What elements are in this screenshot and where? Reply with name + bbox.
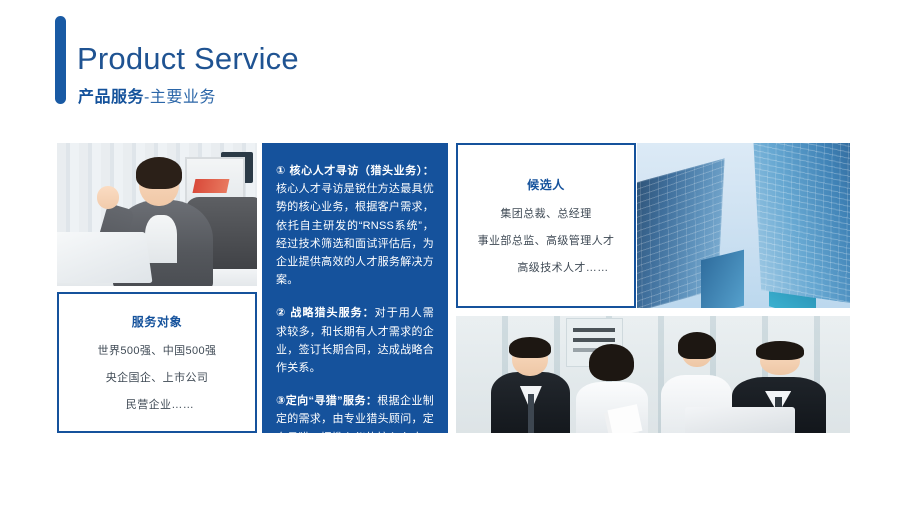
- page-subtitle-chinese: 产品服务-主要业务: [78, 88, 216, 108]
- photo-building-right: [752, 143, 850, 306]
- photo-person-hair: [509, 337, 552, 359]
- candidates-box-line: 集团总裁、总经理: [500, 206, 591, 222]
- photo-person-hair: [589, 344, 634, 381]
- service-item: ① 核心人才寻访（猎头业务）：核心人才寻访是锐仕方达最具优势的核心业务，根据客户…: [276, 162, 434, 289]
- photo-document-paper: [608, 405, 643, 433]
- clients-box-title: 服务对象: [132, 313, 182, 330]
- photo-building-center: [701, 250, 744, 308]
- service-item: ③定向“寻猎”服务：根据企业制定的需求，由专业猎头顾问，定向寻猎，招揽心仪的核心…: [276, 392, 434, 447]
- clients-box-line: 民营企业……: [126, 397, 194, 413]
- page-title-english: Product Service: [77, 42, 299, 76]
- subtitle-light-part: -主要业务: [144, 89, 216, 106]
- service-item-lead: ③定向“寻猎”服务：: [276, 395, 377, 407]
- slide-header: Product Service 产品服务-主要业务: [55, 14, 475, 106]
- photo-person-woman-center: [574, 342, 649, 433]
- photo-person-hair: [678, 332, 716, 358]
- service-item-body: 核心人才寻访是锐仕方达最具优势的核心业务，根据客户需求，依托自主研发的“RNSS…: [276, 183, 434, 286]
- candidates-box-line: 高级技术人才……: [517, 260, 608, 276]
- clients-box-line: 央企国企、上市公司: [106, 370, 209, 386]
- candidates-info-box: 候选人 集团总裁、总经理 事业部总监、高级管理人才 高级技术人才……: [456, 143, 636, 308]
- photo-ok-gesture-hand: [97, 186, 119, 209]
- photo-business-meeting: [456, 316, 850, 433]
- photo-skyscrapers: [637, 143, 850, 308]
- service-item-lead: ① 核心人才寻访（猎头业务）：: [276, 165, 434, 177]
- service-item-lead: ② 战略猎头服务：: [276, 307, 375, 319]
- subtitle-bold-part: 产品服务: [78, 89, 144, 106]
- candidates-box-title: 候选人: [527, 176, 565, 193]
- photo-business-woman-laptop: [57, 143, 257, 286]
- photo-person-shirt: [145, 215, 177, 264]
- slide-canvas: Product Service 产品服务-主要业务 ① 核心人才寻访（猎头业务）…: [0, 0, 907, 510]
- candidates-box-line: 事业部总监、高级管理人才: [478, 233, 615, 249]
- accent-bar-decoration: [55, 16, 66, 104]
- service-targets-info-box: 服务对象 世界500强、中国500强 央企国企、上市公司 民营企业……: [57, 292, 257, 433]
- photo-person-hair: [756, 341, 803, 360]
- photo-person-hair: [136, 157, 182, 188]
- photo-laptop: [685, 407, 795, 433]
- photo-laptop: [57, 232, 153, 283]
- services-description-panel: ① 核心人才寻访（猎头业务）：核心人才寻访是锐仕方达最具优势的核心业务，根据客户…: [262, 143, 448, 433]
- photo-person-man-left: [491, 335, 570, 433]
- clients-box-line: 世界500强、中国500强: [98, 343, 217, 359]
- service-item: ② 战略猎头服务：对于用人需求较多，和长期有人才需求的企业，签订长期合同，达成战…: [276, 304, 434, 377]
- photo-person-tie: [528, 394, 534, 433]
